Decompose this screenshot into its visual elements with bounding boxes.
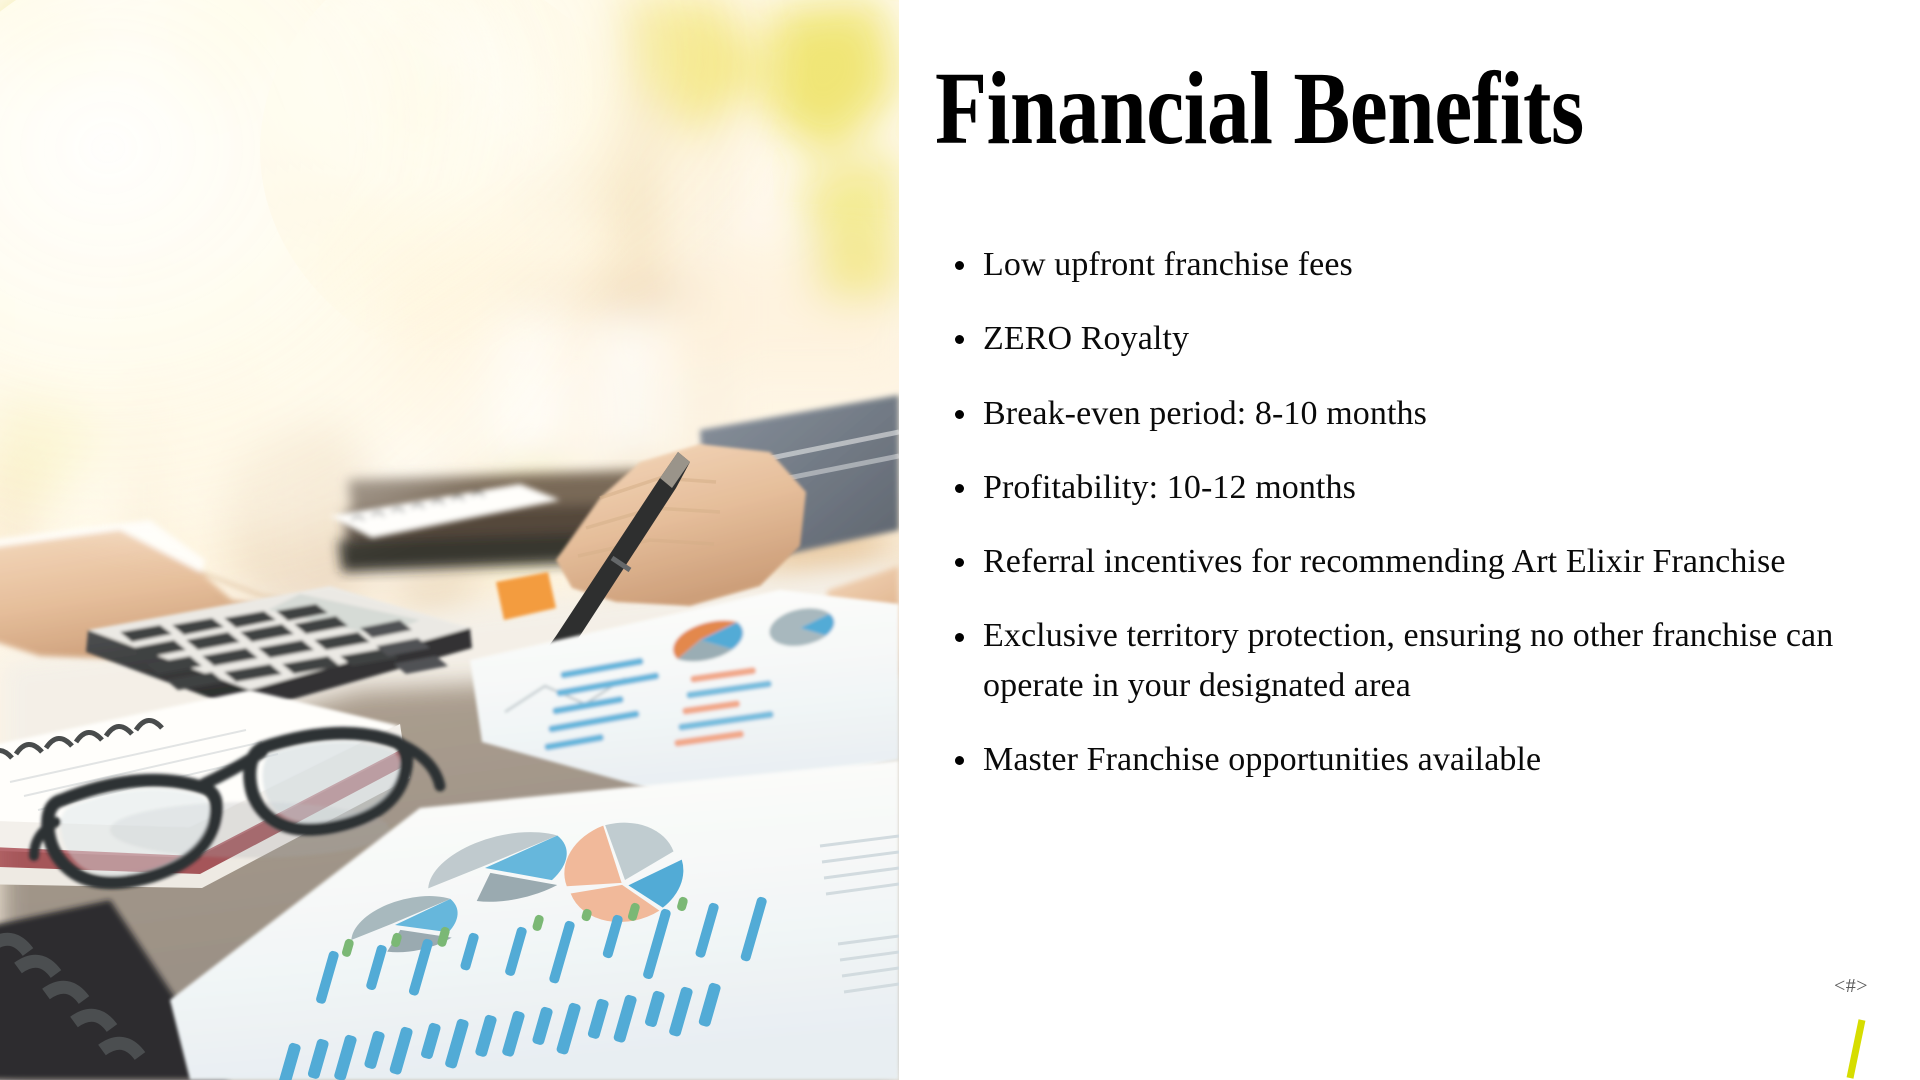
bullet-marker-icon bbox=[955, 261, 964, 270]
presentation-slide: Financial Benefits Low upfront franchise… bbox=[0, 0, 1920, 1080]
list-item: Exclusive territory protection, ensuring… bbox=[949, 611, 1899, 710]
list-item-label: Master Franchise opportunities available bbox=[983, 741, 1541, 778]
list-item: ZERO Royalty bbox=[949, 314, 1899, 363]
list-item-label: Profitability: 10-12 months bbox=[983, 469, 1356, 506]
list-item: Low upfront franchise fees bbox=[949, 240, 1899, 289]
slide-content-panel: Financial Benefits Low upfront franchise… bbox=[899, 0, 1920, 1080]
list-item-label: Low upfront franchise fees bbox=[983, 246, 1353, 283]
accent-diagonal-stroke-icon bbox=[1842, 1018, 1870, 1080]
benefits-bullet-list: Low upfront franchise fees ZERO Royalty … bbox=[949, 240, 1899, 784]
list-item-label: Referral incentives for recommending Art… bbox=[983, 543, 1786, 580]
bullet-marker-icon bbox=[955, 558, 964, 567]
list-item-label: ZERO Royalty bbox=[983, 320, 1189, 357]
bullet-marker-icon bbox=[955, 410, 964, 419]
list-item: Break-even period: 8-10 months bbox=[949, 389, 1899, 438]
list-item-label: Exclusive territory protection, ensuring… bbox=[983, 617, 1833, 703]
page-title: Financial Benefits bbox=[935, 56, 1722, 162]
bullet-marker-icon bbox=[955, 484, 964, 493]
bullet-marker-icon bbox=[955, 335, 964, 344]
list-item: Referral incentives for recommending Art… bbox=[949, 537, 1899, 586]
list-item: Profitability: 10-12 months bbox=[949, 463, 1899, 512]
slide-number-placeholder: <#> bbox=[1834, 975, 1868, 998]
list-item: Master Franchise opportunities available bbox=[949, 735, 1899, 784]
slide-photo bbox=[0, 0, 899, 1080]
office-finance-photo-illustration bbox=[0, 0, 899, 1080]
list-item-label: Break-even period: 8-10 months bbox=[983, 395, 1427, 432]
bullet-marker-icon bbox=[955, 756, 964, 765]
bullet-marker-icon bbox=[955, 633, 964, 642]
